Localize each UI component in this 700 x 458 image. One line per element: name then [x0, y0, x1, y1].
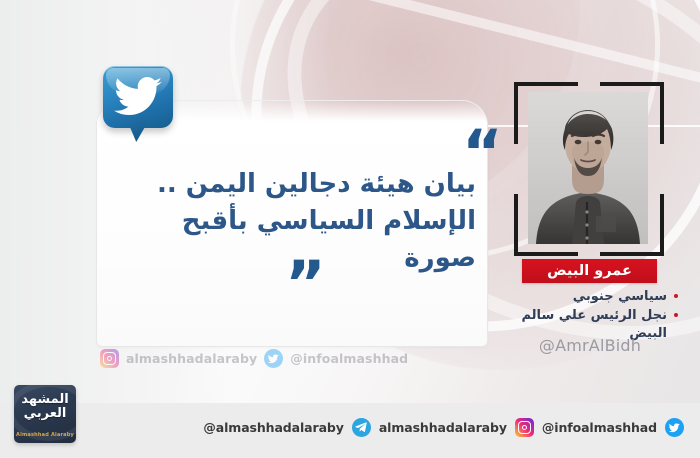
instagram-icon[interactable] — [515, 418, 534, 437]
social-row-middle: almashhadalaraby @infoalmashhad — [100, 349, 408, 368]
quote-card: “ ” بيان هيئة دجالين اليمن .. الإسلام ال… — [0, 0, 700, 458]
twitter-bird-icon — [114, 77, 162, 117]
brand-logo-line-2: العربي — [14, 407, 76, 421]
person-name-banner: عمرو البيض — [522, 259, 657, 283]
telegram-icon[interactable] — [352, 418, 371, 437]
social-footer-label-telegram: @almashhadalaraby — [203, 420, 343, 435]
twitter-icon[interactable] — [264, 349, 283, 368]
twitter-icon[interactable] — [665, 418, 684, 437]
brand-logo-latin: Almashhad Alaraby — [14, 432, 76, 438]
portrait — [528, 92, 648, 244]
headline-line-1: بيان هيئة دجالين اليمن .. — [110, 166, 476, 203]
brand-logo-line-1: المشهد — [14, 393, 76, 407]
instagram-icon[interactable] — [100, 349, 119, 368]
social-row-footer: @almashhadalaraby almashhadalaraby @info… — [203, 418, 684, 437]
social-footer-label-instagram: almashhadalaraby — [379, 420, 507, 435]
portrait-photo — [528, 92, 648, 244]
social-footer-label-twitter: @infoalmashhad — [542, 420, 657, 435]
headline: بيان هيئة دجالين اليمن .. الإسلام السياس… — [110, 166, 476, 277]
twitter-bubble-icon — [103, 66, 173, 136]
social-middle-label-instagram: almashhadalaraby — [126, 351, 257, 366]
list-item: سياسي جنوبي — [500, 288, 680, 305]
headline-line-2: الإسلام السياسي بأقبح صورة — [110, 203, 476, 277]
social-middle-label-twitter: @infoalmashhad — [290, 351, 408, 366]
person-handle: @AmrAlBidh — [500, 336, 680, 355]
person-name: عمرو البيض — [547, 263, 632, 279]
brand-logo: المشهد العربي Almashhad Alaraby — [14, 385, 76, 443]
